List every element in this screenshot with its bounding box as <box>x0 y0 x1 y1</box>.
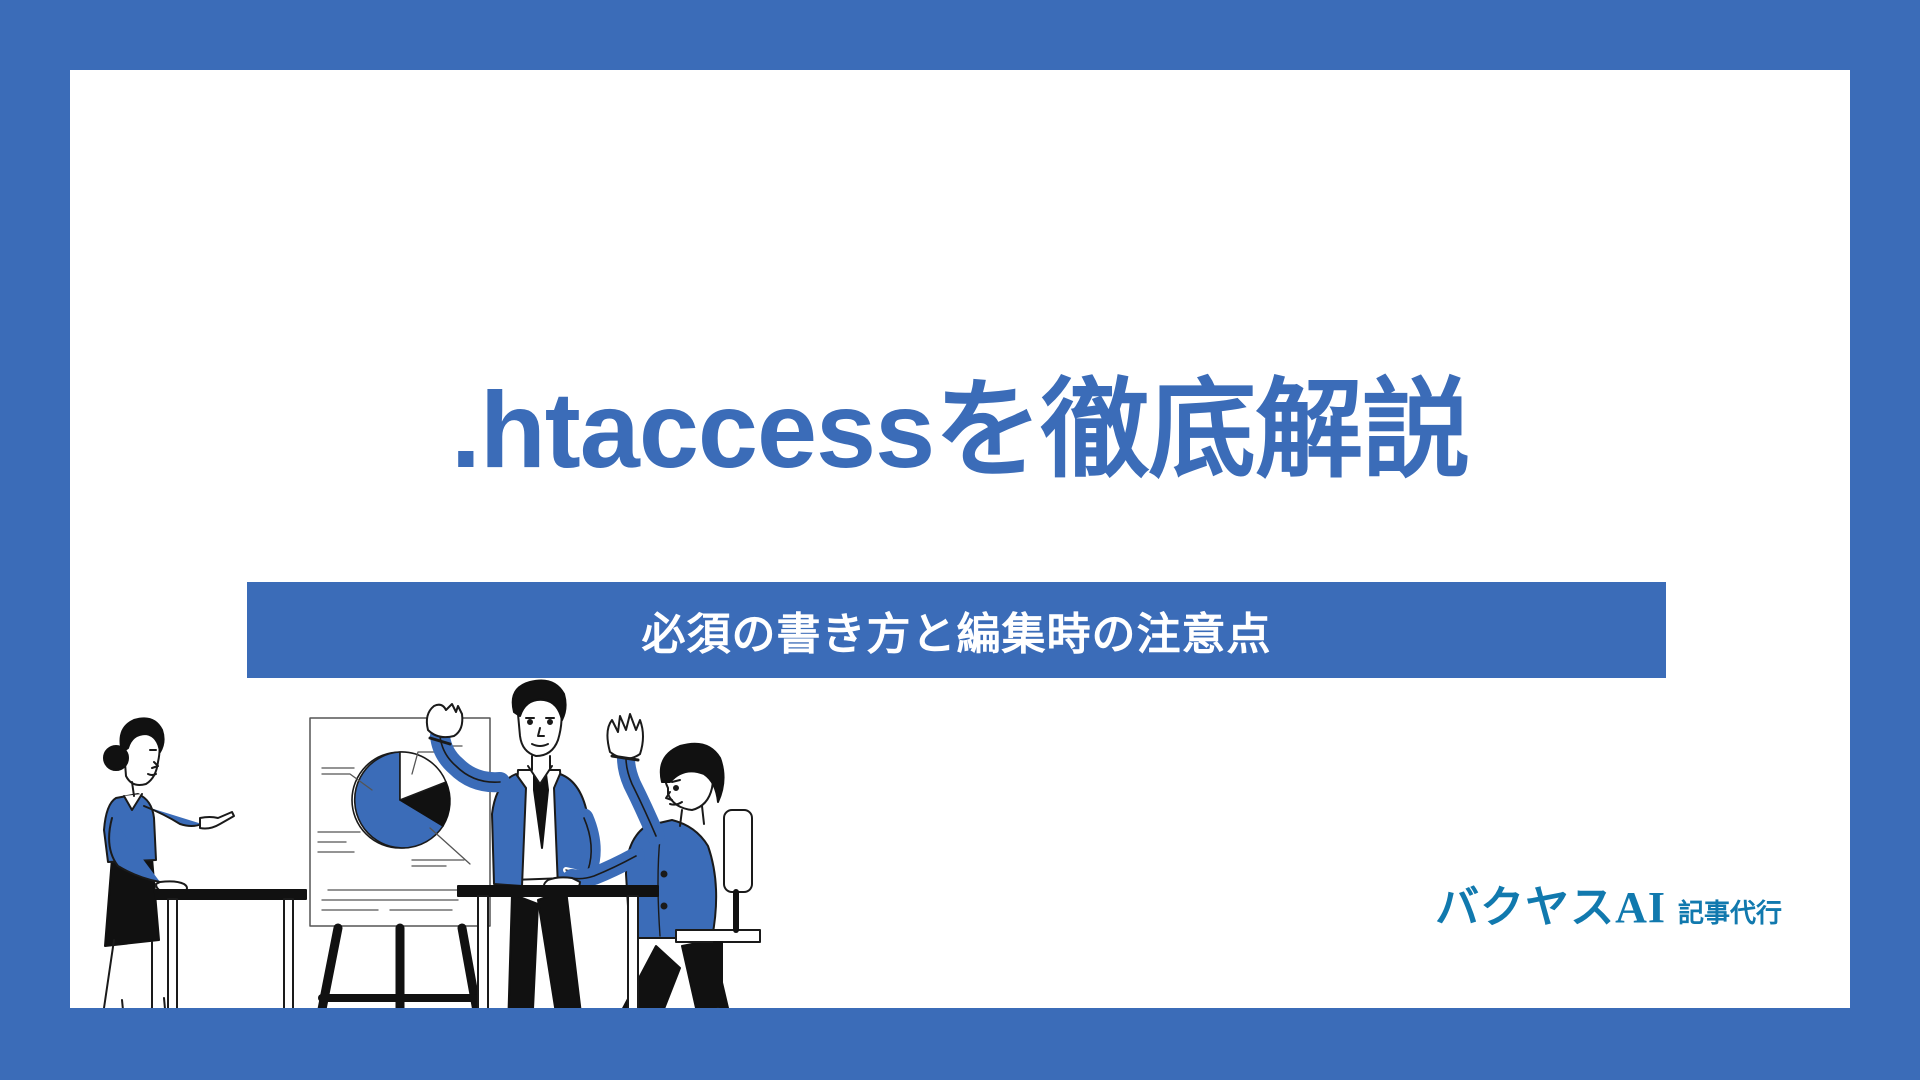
brand-logo-main: バクヤスAI <box>1435 886 1666 930</box>
brand-logo-sub: 記事代行 <box>1678 900 1782 926</box>
slide-canvas: .htaccessを徹底解説 必須の書き方と編集時の注意点 バクヤスAI 記事代… <box>70 70 1850 1008</box>
subtitle-text: 必須の書き方と編集時の注意点 <box>642 598 1272 662</box>
illustration-svg <box>70 678 780 1008</box>
brand-logo: バクヤスAI 記事代行 <box>1435 886 1782 930</box>
subtitle-band: 必須の書き方と編集時の注意点 <box>247 582 1666 678</box>
slide-root: .htaccessを徹底解説 必須の書き方と編集時の注意点 バクヤスAI 記事代… <box>0 0 1920 1080</box>
page-title: .htaccessを徹底解説 <box>70 370 1850 491</box>
prop-table-left <box>156 890 306 1008</box>
business-presentation-illustration <box>70 678 780 1008</box>
figure-woman-pointing <box>90 718 234 1008</box>
